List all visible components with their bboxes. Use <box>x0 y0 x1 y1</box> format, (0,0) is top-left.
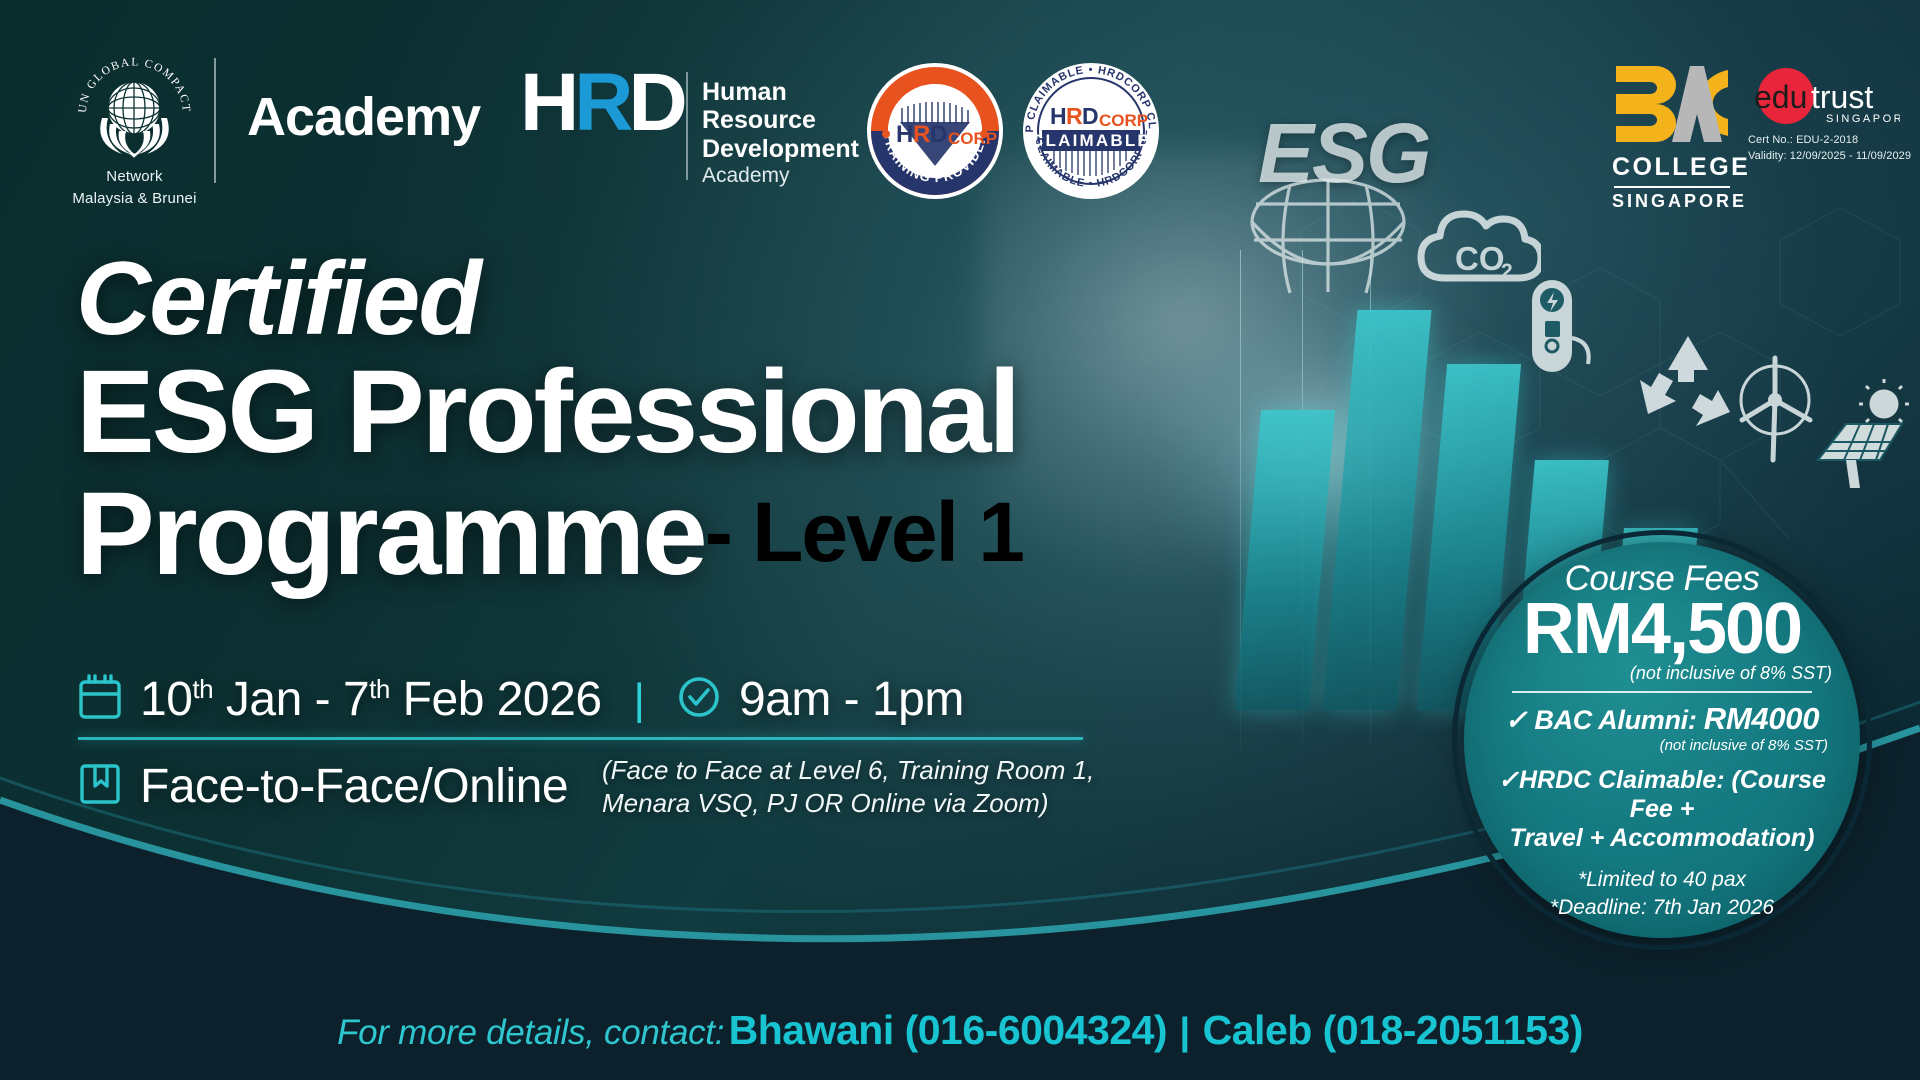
svg-text:CORP: CORP <box>1099 111 1148 130</box>
headline-certified: Certified <box>76 250 1023 350</box>
hrdc-line-2: Travel + Accommodation) <box>1510 824 1815 852</box>
venue-line-1: (Face to Face at Level 6, Training Room … <box>602 755 1094 785</box>
delivery-mode-row: Face-to-Face/Online (Face to Face at Lev… <box>78 754 1198 819</box>
alumni-label: BAC Alumni: <box>1534 705 1696 735</box>
hrd-letter-d: D <box>628 57 682 148</box>
venue-line-2: Menara VSQ, PJ OR Online via Zoom) <box>602 788 1048 818</box>
delivery-mode: Face-to-Face/Online <box>140 759 568 814</box>
hrd-divider <box>686 72 688 180</box>
alumni-sst-note: (not inclusive of 8% SST) <box>1660 737 1828 754</box>
hrd-name-line4: Academy <box>702 164 859 188</box>
edutrust-cert-number: Cert No.: EDU-2-2018 <box>1748 133 1908 149</box>
ev-charging-icon <box>1526 276 1596 384</box>
contact-person-2[interactable]: Caleb (018-2051153) <box>1203 1007 1583 1053</box>
hrd-fullname: Human Resource Development Academy <box>702 78 859 188</box>
venue-details: (Face to Face at Level 6, Training Room … <box>602 754 1094 819</box>
hrd-name-line3: Development <box>702 135 859 163</box>
svg-text:CORP: CORP <box>948 129 997 148</box>
bac-country-label: SINGAPORE <box>1612 191 1732 212</box>
edutrust-word-trust: trust <box>1811 79 1873 115</box>
alumni-price-row: ✓ BAC Alumni: RM4000 <box>1505 701 1819 737</box>
contact-lead-text: For more details, contact: <box>337 1013 724 1052</box>
partner-logo-strip: UN GLOBAL COMPACT <box>0 0 1920 210</box>
headline-programme: Programme <box>76 474 705 594</box>
logo-divider <box>214 58 216 183</box>
hrdcorp-claimable-seal: HRDCORP CLAIMABLE • HRDCORP CLAIMABLE HR… <box>1022 62 1160 200</box>
course-fees-badge: Course Fees RM4,500 (not inclusive of 8%… <box>1452 530 1872 950</box>
svg-text:H: H <box>1050 103 1067 129</box>
info-separator: | <box>634 675 645 725</box>
edutrust-word-edu: edu <box>1754 79 1807 115</box>
svg-text:R: R <box>913 121 930 148</box>
headline-esg-professional: ESG Professional <box>76 352 1023 472</box>
price-sst-note: (not inclusive of 8% SST) <box>1630 663 1832 684</box>
date-time-row: 10th Jan - 7th Feb 2026 | 9am - 1pm <box>78 672 1198 727</box>
edutrust-validity: Validity: 12/09/2025 - 11/09/2029 <box>1748 149 1908 165</box>
contact-footer: For more details, contact: Bhawani (016-… <box>0 1007 1920 1054</box>
price-amount: RM4,500 <box>1523 593 1801 665</box>
hrd-letter-r: R <box>574 57 628 148</box>
bac-college-logo: COLLEGE SINGAPORE <box>1612 62 1732 212</box>
capacity-and-deadline: *Limited to 40 pax *Deadline: 7th Jan 20… <box>1550 866 1774 921</box>
alumni-amount: RM4000 <box>1704 701 1819 736</box>
co2-cloud-icon: CO 2 <box>1415 200 1541 296</box>
academy-wordmark: Academy <box>247 86 480 148</box>
course-time: 9am - 1pm <box>739 672 964 727</box>
edutrust-country: SINGAPORE <box>1826 113 1900 125</box>
svg-text:H: H <box>896 121 913 148</box>
svg-text:CO: CO <box>1455 240 1505 277</box>
calendar-icon <box>78 674 122 725</box>
hrd-logo: HRD <box>520 64 683 142</box>
clock-check-icon <box>677 675 721 724</box>
claimable-band-text: CLAIMABLE <box>1031 131 1151 150</box>
un-logo-caption-line1: Network <box>72 168 197 187</box>
hrd-letter-h: H <box>520 57 574 148</box>
contact-separator: | <box>1180 1011 1191 1053</box>
contact-person-1[interactable]: Bhawani (016-6004324) <box>729 1007 1167 1053</box>
price-divider <box>1512 691 1812 693</box>
price-disc: Course Fees RM4,500 (not inclusive of 8%… <box>1464 542 1860 938</box>
esg-programme-banner: ESG CO 2 <box>0 0 1920 1080</box>
bac-rule <box>1614 186 1730 188</box>
headline-block: Certified ESG Professional Programme - L… <box>76 250 1023 595</box>
hrdc-check-icon: ✓ <box>1498 766 1519 794</box>
edutrust-logo: edu trust SINGAPORE Cert No.: EDU-2-2018… <box>1748 66 1908 165</box>
deadline-note: *Deadline: 7th Jan 2026 <box>1550 896 1774 919</box>
bac-college-label: COLLEGE <box>1612 153 1732 182</box>
svg-text:D: D <box>1082 103 1099 129</box>
hrd-name-line1: Human <box>702 78 859 106</box>
hrdc-claimable-note: ✓HRDC Claimable: (Course Fee + Travel + … <box>1490 766 1834 853</box>
svg-text:D: D <box>930 121 947 148</box>
un-logo-caption-line2: Malaysia & Brunei <box>72 190 197 209</box>
headline-level: - Level 1 <box>705 484 1023 595</box>
svg-text:2: 2 <box>1501 260 1513 283</box>
info-divider <box>78 737 1083 740</box>
solar-panel-icon <box>1806 378 1914 490</box>
hrdcorp-registered-training-provider-seal: REGISTERED TRAINING PROVIDER H R D COR <box>866 62 1004 200</box>
un-global-compact-logo: UN GLOBAL COMPACT <box>72 52 197 209</box>
course-info-block: 10th Jan - 7th Feb 2026 | 9am - 1pm Face… <box>78 672 1198 819</box>
limit-note: *Limited to 40 pax <box>1578 868 1746 891</box>
svg-text:R: R <box>1066 103 1083 129</box>
book-icon <box>78 761 122 812</box>
hrd-name-line2: Resource <box>702 106 859 134</box>
course-dates: 10th Jan - 7th Feb 2026 <box>140 672 602 727</box>
alumni-check-icon: ✓ <box>1505 705 1527 735</box>
hrdc-line-1: HRDC Claimable: (Course Fee + <box>1519 766 1826 823</box>
